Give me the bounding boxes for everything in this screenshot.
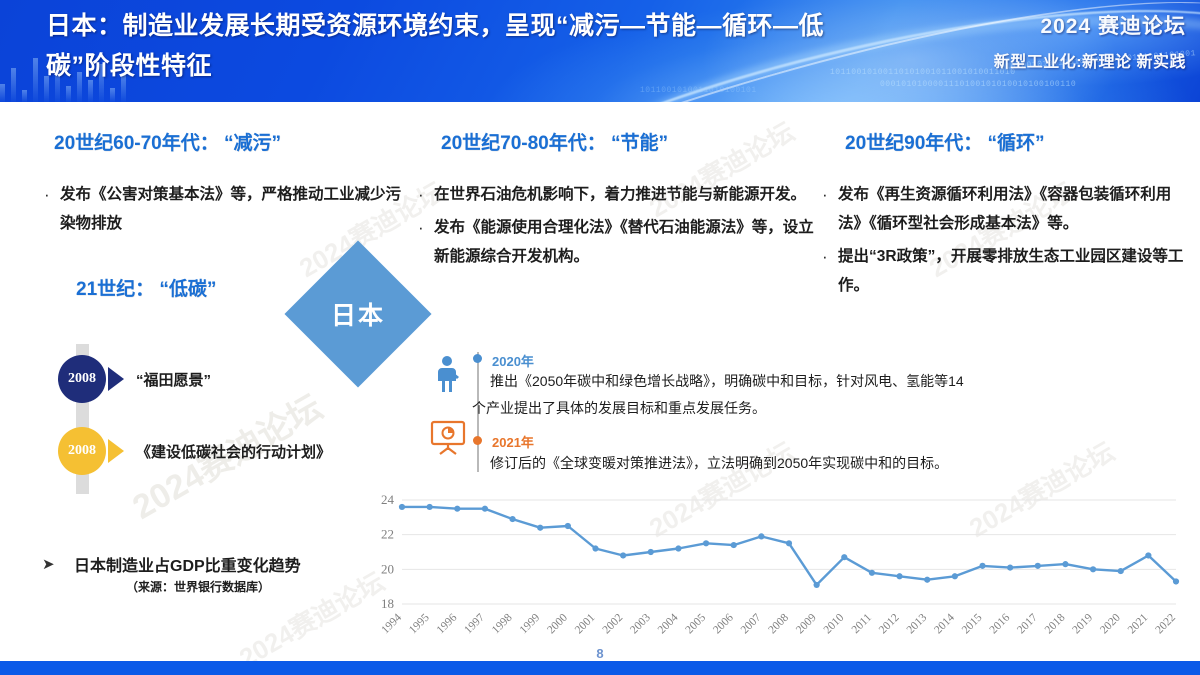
bullet-dot-icon: ·	[418, 213, 434, 271]
timeline-item-2008-action-plan: 2008 《建设低碳社会的行动计划》	[58, 427, 331, 475]
chart-data-point	[509, 516, 515, 522]
brand-title: 2024 赛迪论坛	[916, 10, 1186, 40]
chart-canvas: 1820222419941995199619971998199920002001…	[366, 492, 1186, 672]
brand-block: 2024 赛迪论坛 新型工业化:新理论 新实践	[916, 10, 1186, 72]
x-axis-tick: 2010	[822, 611, 847, 636]
x-axis-tick: 2006	[711, 611, 736, 636]
chart-data-point	[841, 554, 847, 560]
chart-data-point	[979, 563, 985, 569]
column-bullets-energy-saving: · 在世界石油危机影响下，着力推进节能与新能源开发。 · 发布《能源使用合理化法…	[418, 180, 818, 275]
x-axis-tick: 2018	[1043, 611, 1068, 636]
chart-data-point	[869, 570, 875, 576]
chart-data-point	[952, 573, 958, 579]
y-axis-tick: 24	[381, 492, 395, 507]
year-body-2020-line1: 推出《2050年碳中和绿色增长战略》，明确碳中和目标，针对风电、氢能等14	[490, 368, 964, 395]
chart-data-point	[648, 549, 654, 555]
bullet-text: 发布《再生资源循环利用法》《容器包装循环利用法》《循环型社会形成基本法》等。	[838, 180, 1194, 238]
column-heading-energy-saving: 20世纪70-80年代： “节能”	[441, 128, 668, 155]
chart-data-point	[565, 523, 571, 529]
x-axis-tick: 1997	[462, 611, 487, 636]
x-axis-tick: 2019	[1070, 611, 1095, 636]
x-axis-tick: 2015	[960, 611, 985, 636]
x-axis-tick: 2022	[1153, 611, 1178, 636]
x-axis-tick: 2013	[905, 611, 930, 636]
timeline-arrow-icon	[108, 367, 124, 391]
column-bullets-pollution: · 发布《公害对策基本法》等，严格推动工业减少污染物排放	[44, 180, 414, 242]
chart-data-point	[703, 540, 709, 546]
japan-diamond-label: 日本	[306, 262, 410, 366]
footer-bar	[0, 661, 1200, 675]
timeline-label: 《建设低碳社会的行动计划》	[136, 441, 331, 462]
chart-data-point	[454, 506, 460, 512]
x-axis-tick: 2003	[628, 611, 653, 636]
chart-data-point	[731, 542, 737, 548]
chart-data-point	[675, 545, 681, 551]
chart-data-point	[537, 525, 543, 531]
bullet-item: · 发布《公害对策基本法》等，严格推动工业减少污染物排放	[44, 180, 414, 238]
year-label-2021: 2021年	[492, 432, 534, 451]
x-axis-tick: 2001	[573, 611, 598, 636]
column-heading-pollution: 20世纪60-70年代： “减污”	[54, 128, 281, 155]
x-axis-tick: 2014	[932, 611, 957, 636]
gdp-caption-source: （来源：世界银行数据库）	[126, 578, 382, 595]
page-number: 8	[0, 646, 1200, 661]
timeline-arrow-icon	[108, 439, 124, 463]
chart-data-point	[1007, 565, 1013, 571]
presentation-board-icon	[430, 418, 466, 461]
chart-data-point	[482, 506, 488, 512]
year-body-2020-line2: 个产业提出了具体的发展目标和重点发展任务。	[472, 395, 766, 422]
year-body-2021-line1: 修订后的《全球变暖对策推进法》，立法明确到2050年实现碳中和的目标。	[490, 450, 948, 477]
bullet-dot-icon: ·	[44, 180, 60, 238]
bullet-text: 在世界石油危机影响下，着力推进节能与新能源开发。	[434, 180, 818, 209]
bullet-item: · 发布《再生资源循环利用法》《容器包装循环利用法》《循环型社会形成基本法》等。	[822, 180, 1194, 238]
bullet-dot-icon: ·	[822, 180, 838, 238]
chart-data-point	[1035, 563, 1041, 569]
x-axis-tick: 2016	[988, 611, 1013, 636]
x-axis-tick: 2017	[1015, 611, 1040, 636]
x-axis-tick: 1999	[518, 611, 543, 636]
chart-data-point	[620, 552, 626, 558]
timeline-label: “福田愿景”	[136, 369, 211, 390]
bullet-dot-icon: ·	[418, 180, 434, 209]
bullet-text: 发布《能源使用合理化法》《替代石油能源法》等，设立新能源综合开发机构。	[434, 213, 818, 271]
chart-data-point	[592, 545, 598, 551]
x-axis-tick: 2011	[850, 611, 875, 636]
x-axis-tick: 1996	[435, 611, 460, 636]
bullet-item: · 在世界石油危机影响下，着力推进节能与新能源开发。	[418, 180, 818, 209]
x-axis-tick: 2000	[545, 611, 570, 636]
x-axis-tick: 2007	[739, 611, 764, 636]
x-axis-tick: 1998	[490, 611, 515, 636]
x-axis-tick: 1995	[407, 611, 432, 636]
arrow-bullet-icon: ➤	[42, 555, 55, 573]
binary-decoration: 1011001010011010100101	[640, 86, 757, 95]
page-title: 日本：制造业发展长期受资源环境约束，呈现“减污—节能—循环—低碳”阶段性特征	[46, 6, 846, 86]
chart-data-point	[427, 504, 433, 510]
x-axis-tick: 2004	[656, 611, 681, 636]
year-timeline-dot-2020	[473, 354, 482, 363]
gdp-chart-caption: ➤ 日本制造业占GDP比重变化趋势 （来源：世界银行数据库）	[42, 552, 382, 595]
gdp-share-line-chart: 1820222419941995199619971998199920002001…	[366, 492, 1186, 672]
x-axis-tick: 2021	[1126, 611, 1151, 636]
column-bullets-recycling: · 发布《再生资源循环利用法》《容器包装循环利用法》《循环型社会形成基本法》等。…	[822, 180, 1194, 304]
bullet-dot-icon: ·	[822, 242, 838, 300]
chart-data-point	[1090, 566, 1096, 572]
x-axis-tick: 1994	[379, 611, 404, 636]
timeline-year-badge: 2008	[58, 427, 106, 475]
gdp-caption-main: 日本制造业占GDP比重变化趋势	[74, 552, 382, 576]
chart-data-point	[1173, 578, 1179, 584]
x-axis-tick: 2020	[1098, 611, 1123, 636]
slide-root: 10110010100110101001011001010011010 0001…	[0, 0, 1200, 675]
chart-data-point	[1118, 568, 1124, 574]
chart-data-point	[1145, 552, 1151, 558]
timeline-item-2008-fukuda: 2008 “福田愿景”	[58, 355, 211, 403]
column-heading-low-carbon: 21世纪： “低碳”	[76, 274, 216, 301]
chart-data-point	[924, 577, 930, 583]
y-axis-tick: 20	[381, 561, 394, 576]
chart-data-point	[758, 533, 764, 539]
timeline-year-badge: 2008	[58, 355, 106, 403]
chart-data-point	[1062, 561, 1068, 567]
chart-data-point	[896, 573, 902, 579]
chart-data-point	[399, 504, 405, 510]
chart-data-point	[786, 540, 792, 546]
bullet-item: · 提出“3R政策”，开展零排放生态工业园区建设等工作。	[822, 242, 1194, 300]
x-axis-tick: 2005	[683, 611, 708, 636]
person-icon	[432, 355, 462, 398]
y-axis-tick: 18	[381, 596, 394, 611]
bullet-text: 提出“3R政策”，开展零排放生态工业园区建设等工作。	[838, 242, 1194, 300]
x-axis-tick: 2012	[877, 611, 902, 636]
column-heading-recycling: 20世纪90年代： “循环”	[845, 128, 1045, 155]
year-timeline-dot-2021	[473, 436, 482, 445]
x-axis-tick: 2009	[794, 611, 819, 636]
bullet-text: 发布《公害对策基本法》等，严格推动工业减少污染物排放	[60, 180, 414, 238]
bullet-item: · 发布《能源使用合理化法》《替代石油能源法》等，设立新能源综合开发机构。	[418, 213, 818, 271]
binary-decoration: 0001010100001110100101010010100100110	[880, 80, 1076, 89]
x-axis-tick: 2002	[601, 611, 626, 636]
chart-data-point	[814, 582, 820, 588]
x-axis-tick: 2008	[766, 611, 791, 636]
brand-subtitle: 新型工业化:新理论 新实践	[916, 48, 1186, 72]
y-axis-tick: 22	[381, 527, 394, 542]
slide-header: 10110010100110101001011001010011010 0001…	[0, 0, 1200, 102]
